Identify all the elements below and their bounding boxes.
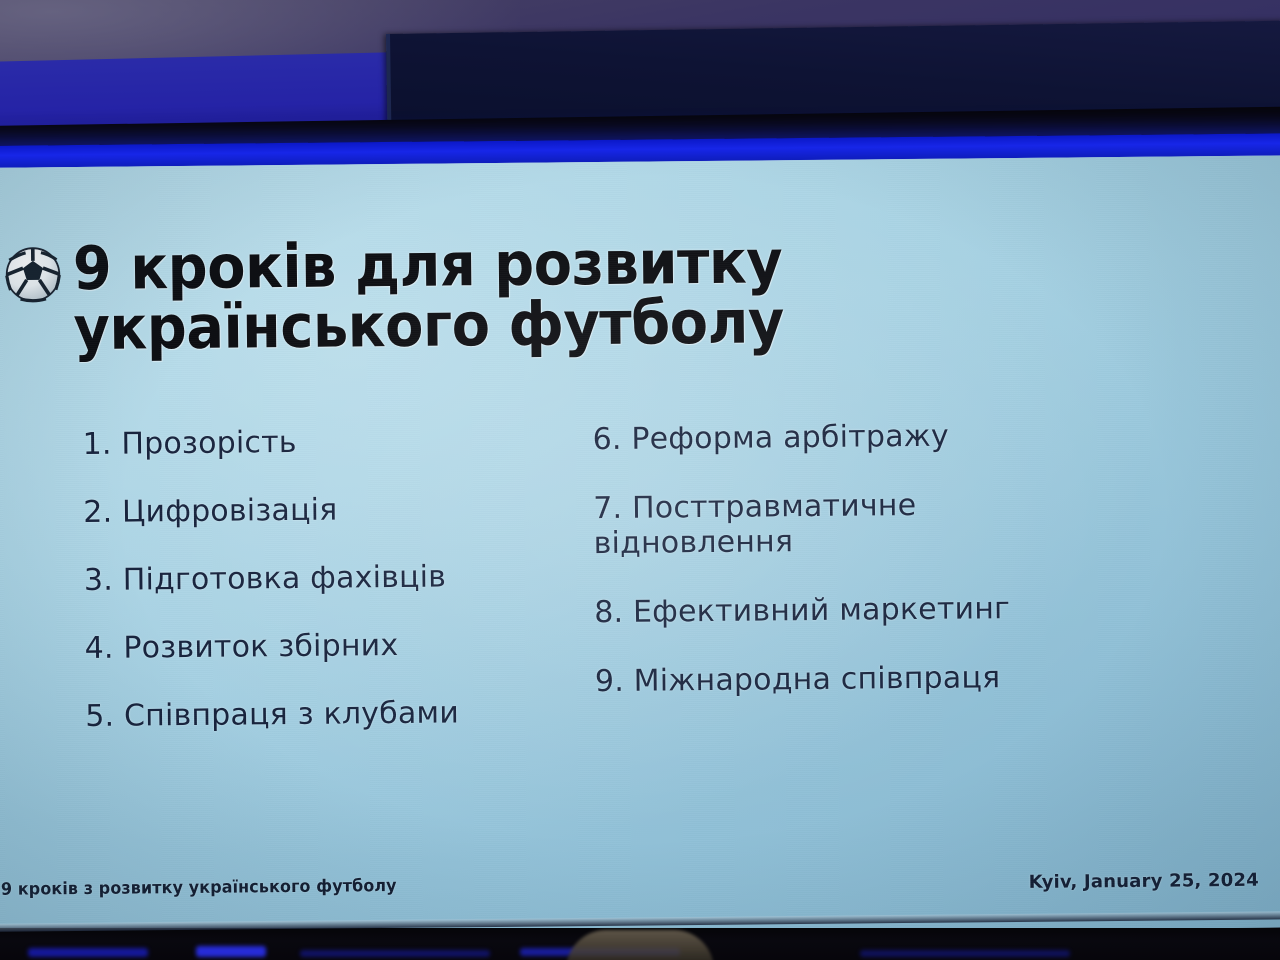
slide-footer-date: Kyiv, January 25, 2024 — [1029, 870, 1259, 893]
presentation-slide: 9 кроків для розвитку українського футбо… — [0, 155, 1280, 940]
slide-title-row: 9 кроків для розвитку українського футбо… — [1, 230, 1001, 240]
step-item-9: 9. Міжнародна співпраця — [595, 659, 1155, 699]
slide-footer-left: 9 кроків з розвитку українського футболу — [1, 876, 397, 900]
step-item-6: 6. Реформа арбітражу — [592, 417, 1152, 457]
step-item-8: 8. Ефективний маркетинг — [594, 590, 1154, 630]
screenshot-stage: 9 кроків для розвитку українського футбо… — [0, 0, 1280, 960]
steps-column-left: 1. Прозорість 2. Цифровізація 3. Підгото… — [82, 422, 555, 766]
room-led-glint-1 — [28, 948, 148, 957]
room-led-glint-5 — [860, 950, 1070, 957]
slide-title: 9 кроків для розвитку українського футбо… — [73, 231, 911, 359]
step-item-4: 4. Розвиток збірних — [84, 626, 554, 666]
step-item-2: 2. Цифровізація — [83, 490, 553, 530]
soccer-ball-icon — [4, 245, 63, 304]
steps-list: 1. Прозорість 2. Цифровізація 3. Підгото… — [2, 415, 1280, 787]
steps-column-right: 6. Реформа арбітражу 7. Посттравматичне … — [592, 417, 1155, 733]
step-item-7: 7. Посттравматичне відновлення — [593, 486, 1154, 561]
room-led-glint-3 — [300, 950, 490, 957]
step-item-3: 3. Підготовка фахівців — [84, 558, 554, 598]
room-led-glint-2 — [196, 946, 266, 957]
step-item-1: 1. Прозорість — [82, 422, 552, 462]
step-item-5: 5. Співпраця з клубами — [85, 694, 555, 734]
audience-head-silhouette — [566, 930, 714, 960]
slide-content-area: 9 кроків для розвитку українського футбо… — [0, 155, 1280, 939]
